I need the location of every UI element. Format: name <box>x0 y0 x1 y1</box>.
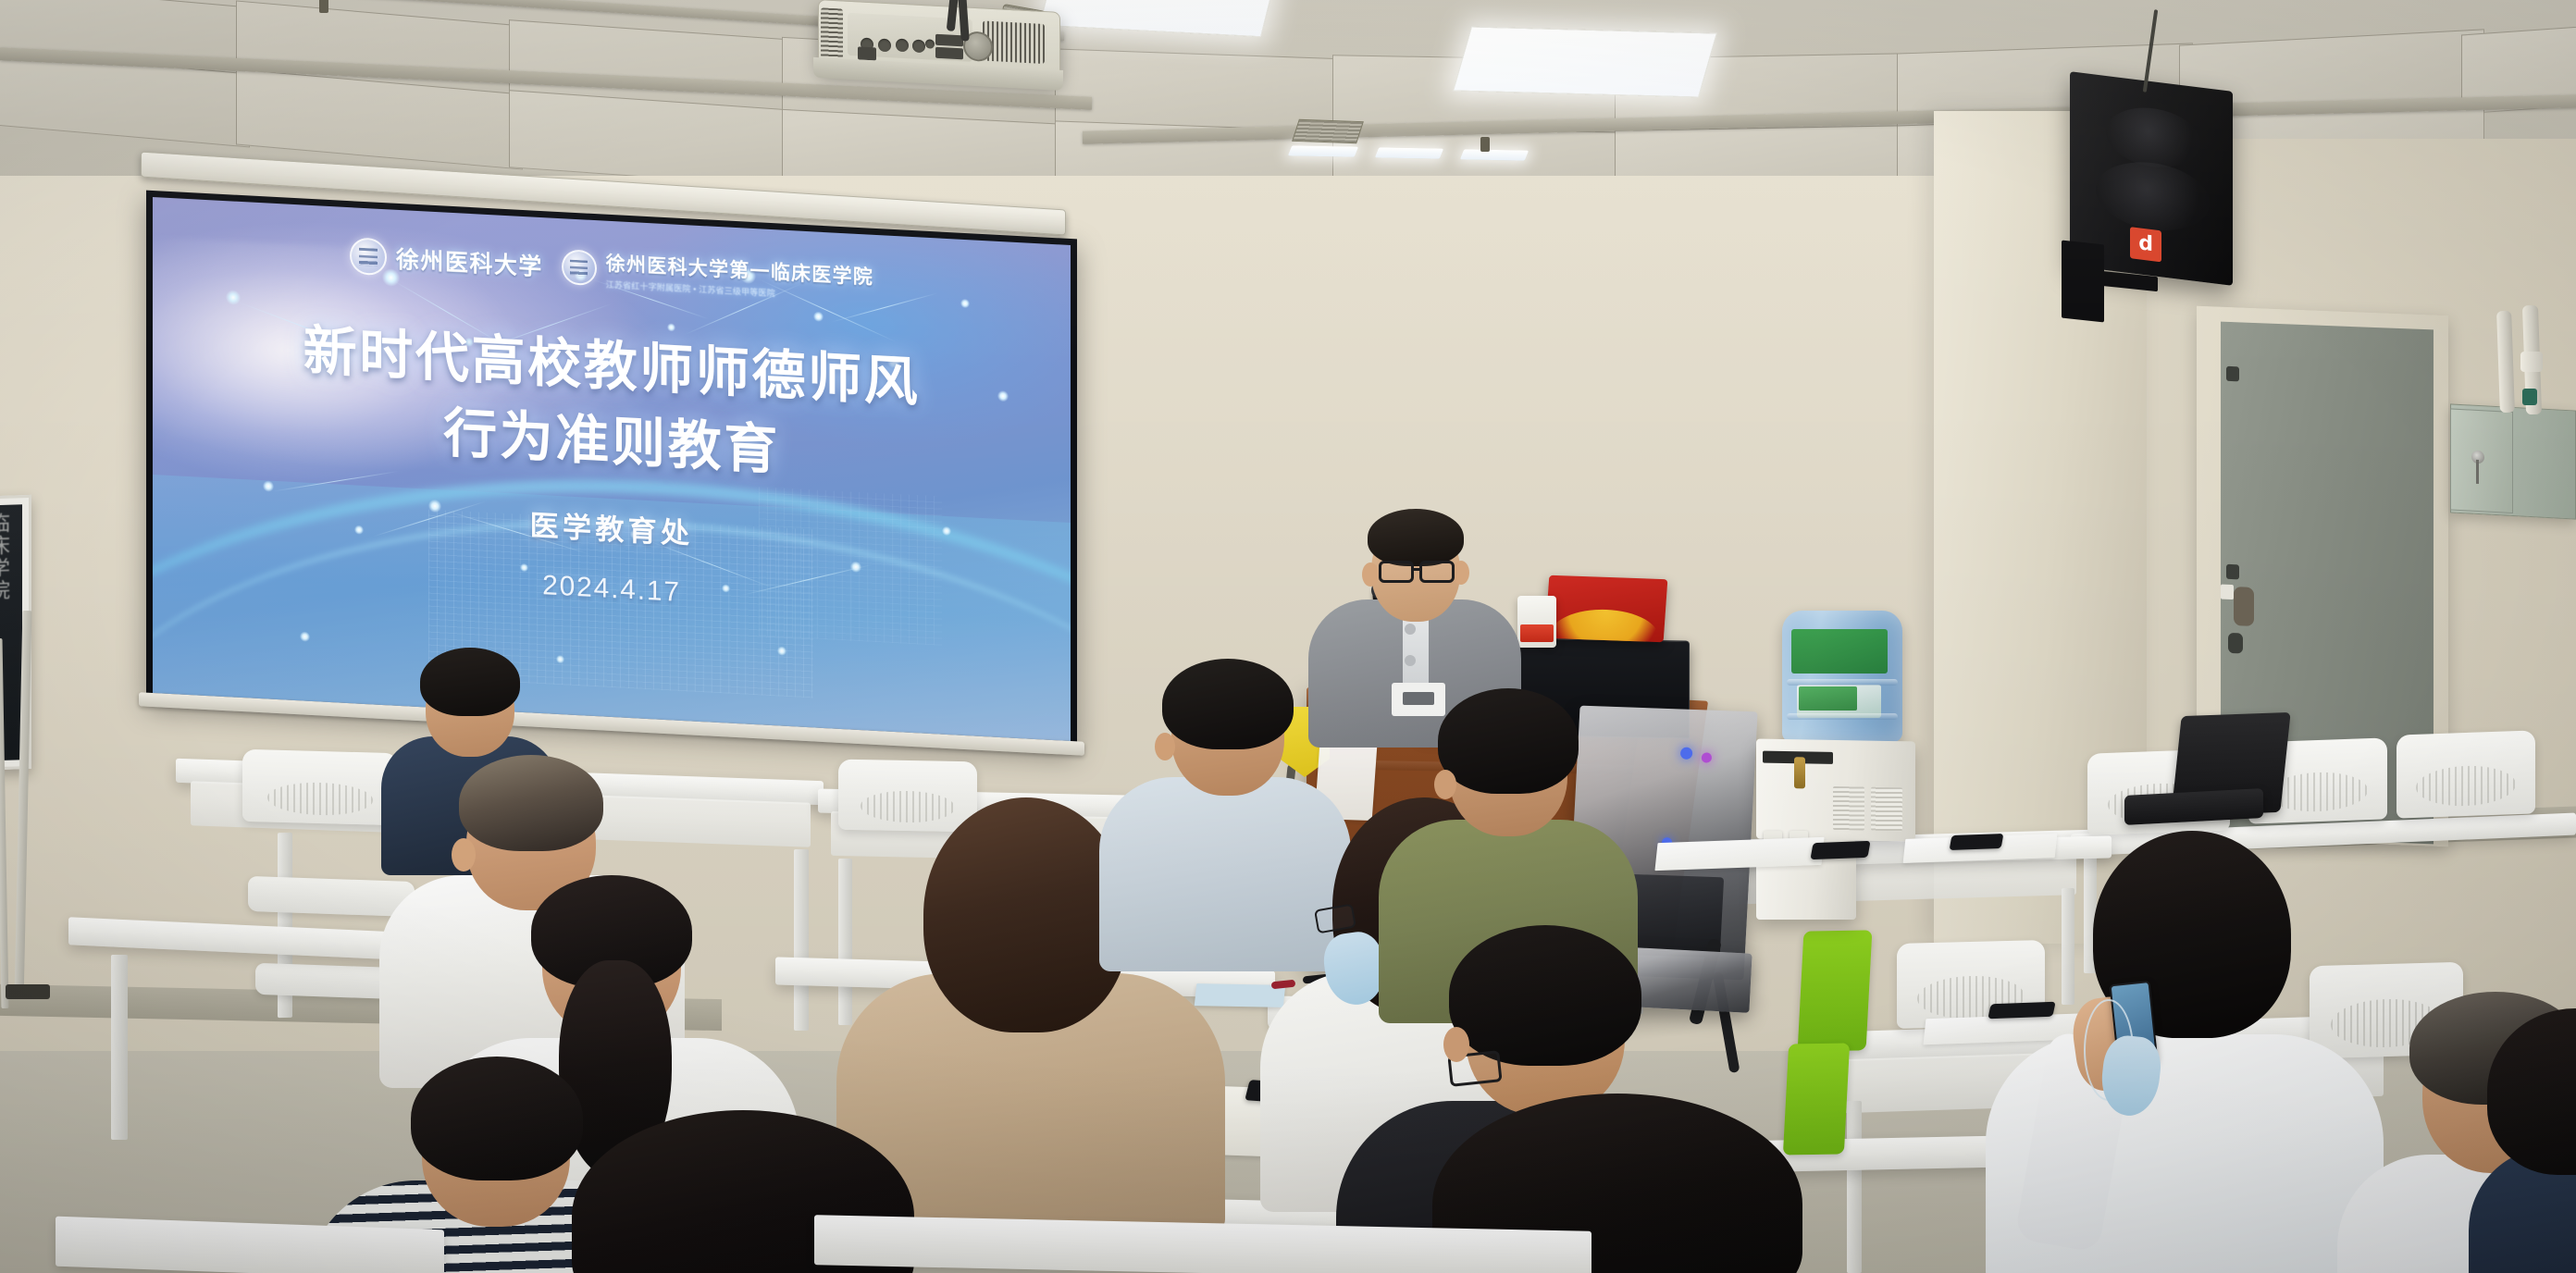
electrical-panel[interactable] <box>2450 403 2576 519</box>
green-chair[interactable] <box>1798 930 1873 1051</box>
water-jug <box>1782 611 1902 742</box>
speaker-glasses-icon <box>1379 561 1414 583</box>
chair-back-right-3[interactable] <box>2396 730 2535 818</box>
desk-phone-right-2[interactable] <box>1950 834 2004 850</box>
presentation-slide: 徐州医科大学 徐州医科大学第一临床医学院 江苏省红十字附属医院 • 江苏省三级甲… <box>153 197 1071 741</box>
ceiling-vent <box>1292 119 1364 143</box>
red-product-box <box>1545 575 1668 642</box>
desk-papers-right <box>1654 837 1824 871</box>
ceiling-tube-light-1 <box>1288 145 1358 156</box>
pipe-joint <box>2520 352 2543 372</box>
person-a10 <box>2004 834 2374 1273</box>
person-a5-hair <box>923 797 1129 1032</box>
ceiling-panel-light-2 <box>1039 0 1274 37</box>
water-dispenser[interactable] <box>1756 738 1915 841</box>
person-a14 <box>2478 1008 2576 1273</box>
chair-seat-left-row1-a[interactable] <box>248 876 415 917</box>
lecture-hall-photo: d 临床学院 <box>0 0 2576 1273</box>
ceiling-projector <box>818 0 1060 82</box>
hospital-seal-icon <box>562 250 597 287</box>
door-lock[interactable] <box>2234 587 2254 626</box>
sprinkler-head-2 <box>319 0 328 13</box>
ceiling-tube-light-3 <box>1460 149 1529 160</box>
slide-logo-1-label: 徐州医科大学 <box>396 241 543 282</box>
speaker-glasses-right-icon <box>1419 561 1455 583</box>
water-jug-label <box>1791 629 1888 674</box>
board-writing: 临床学院 <box>0 513 13 603</box>
door-plate <box>2221 585 2234 600</box>
speaker-brand-badge: d <box>2130 227 2161 262</box>
projection-screen: 徐州医科大学 徐州医科大学第一临床医学院 江苏省红十字附属医院 • 江苏省三级甲… <box>146 191 1077 748</box>
chair-left-row1-a[interactable] <box>242 749 398 825</box>
ceiling-panel-light-1 <box>1453 27 1717 98</box>
speaker-bracket <box>2062 241 2104 323</box>
slide-logo-2: 徐州医科大学第一临床医学院 江苏省红十字附属医院 • 江苏省三级甲等医院 <box>562 246 873 304</box>
slide-logo-1: 徐州医科大学 <box>350 238 543 285</box>
pipe-valve <box>2522 389 2537 405</box>
sprinkler-head <box>1480 137 1490 152</box>
speaker-hair <box>1368 509 1464 566</box>
easel-foot <box>6 984 50 999</box>
ceiling-tube-light-2 <box>1375 147 1443 158</box>
university-seal-icon <box>350 238 387 277</box>
desk-phone-right[interactable] <box>1810 841 1870 859</box>
